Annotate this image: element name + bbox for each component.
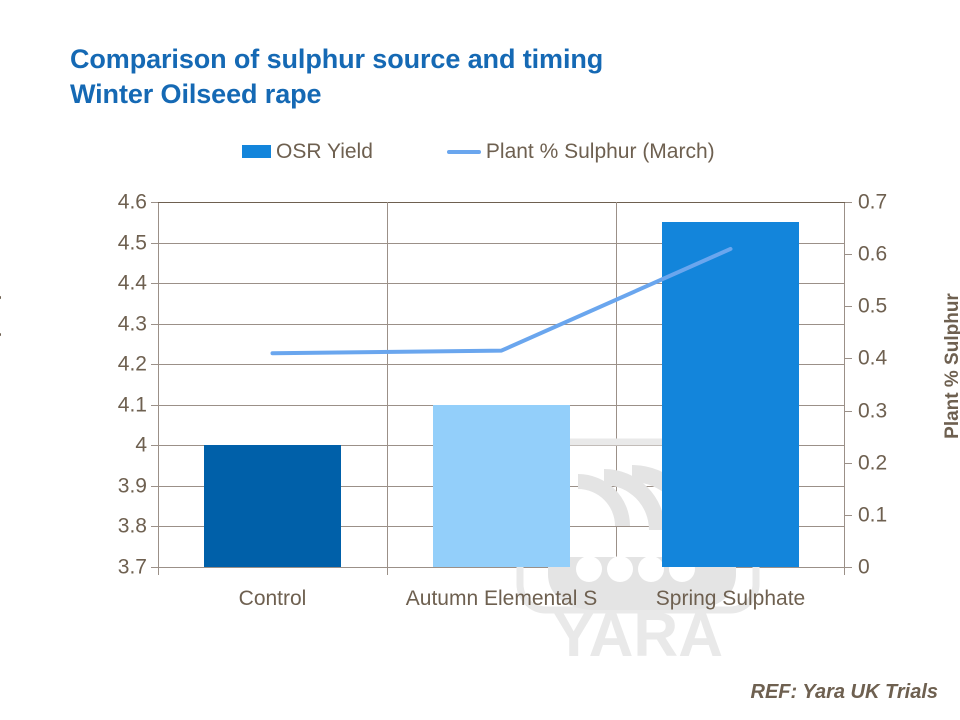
line-series (158, 202, 845, 567)
chart-container: Comparison of sulphur source and timing … (0, 0, 960, 720)
y-axis-right-tick-label: 0.7 (858, 192, 887, 213)
y-axis-left-tick-label: 4 (87, 435, 147, 456)
y-axis-left-title: Yield (t/ha) (0, 293, 3, 389)
x-axis-tick (387, 567, 388, 575)
y-axis-right-tick (845, 411, 852, 412)
legend-item-plant-sulphur[interactable]: Plant % Sulphur (March) (447, 141, 715, 162)
y-axis-left-tick (151, 202, 158, 203)
y-axis-right-tick-label: 0 (858, 557, 870, 578)
y-axis-right-tick (845, 306, 852, 307)
y-axis-right-tick-label: 0.4 (858, 348, 887, 369)
y-axis-left-tick-label: 3.7 (87, 557, 147, 578)
y-axis-right-tick-label: 0.2 (858, 452, 887, 473)
y-axis-right-tick-labels: 00.10.20.30.40.50.60.7 (858, 202, 918, 567)
y-axis-right-tick-label: 0.5 (858, 296, 887, 317)
plot-area: YARA (158, 202, 845, 567)
y-axis-left-tick (151, 486, 158, 487)
y-axis-left-tick-label: 3.8 (87, 516, 147, 537)
legend-label-plant-sulphur: Plant % Sulphur (March) (486, 141, 715, 162)
chart-title: Comparison of sulphur source and timing … (70, 42, 830, 111)
y-axis-left-tick (151, 526, 158, 527)
y-axis-right-tick (845, 254, 852, 255)
y-axis-left-tick-label: 4.1 (87, 394, 147, 415)
legend-item-osr-yield[interactable]: OSR Yield (242, 141, 373, 162)
y-axis-right-tick (845, 515, 852, 516)
y-axis-left-tick-labels: 3.73.83.944.14.24.34.44.54.6 (83, 202, 147, 567)
y-axis-left-tick (151, 283, 158, 284)
chart-legend: OSR Yield Plant % Sulphur (March) (242, 141, 715, 162)
y-axis-right-tick-label: 0.6 (858, 244, 887, 265)
x-axis-tick-label: Autumn Elemental S (406, 588, 597, 609)
gridline (158, 567, 845, 568)
y-axis-left-tick (151, 567, 158, 568)
y-axis-right-title: Plant % Sulphur (942, 293, 960, 439)
reference-note: REF: Yara UK Trials (751, 681, 938, 704)
y-axis-right-tick (845, 463, 852, 464)
line-swatch-icon (447, 150, 481, 154)
x-axis-tick (158, 567, 159, 575)
y-axis-left-tick-label: 4.5 (87, 232, 147, 253)
y-axis-left-tick-label: 4.2 (87, 354, 147, 375)
y-axis-left-tick (151, 243, 158, 244)
y-axis-left-tick (151, 445, 158, 446)
x-axis-tick-label: Control (239, 588, 307, 609)
y-axis-left-tick (151, 405, 158, 406)
y-axis-left-tick-label: 4.3 (87, 313, 147, 334)
line-path[interactable] (273, 249, 731, 353)
legend-label-osr-yield: OSR Yield (276, 141, 373, 162)
y-axis-right-tick (845, 202, 852, 203)
y-axis-left-tick-label: 4.4 (87, 273, 147, 294)
bar-swatch-icon (242, 145, 271, 158)
x-axis-tick (616, 567, 617, 575)
x-axis-tick-labels: ControlAutumn Elemental SSpring Sulphate (158, 588, 845, 618)
y-axis-right-tick-label: 0.1 (858, 504, 887, 525)
y-axis-left-tick (151, 364, 158, 365)
y-axis-right-tick (845, 358, 852, 359)
y-axis-right-tick (845, 567, 852, 568)
y-axis-right-tick-label: 0.3 (858, 400, 887, 421)
x-axis-tick-label: Spring Sulphate (656, 588, 805, 609)
x-axis-tick (844, 567, 845, 575)
y-axis-left-tick (151, 324, 158, 325)
y-axis-left-tick-label: 4.6 (87, 192, 147, 213)
y-axis-left-tick-label: 3.9 (87, 475, 147, 496)
